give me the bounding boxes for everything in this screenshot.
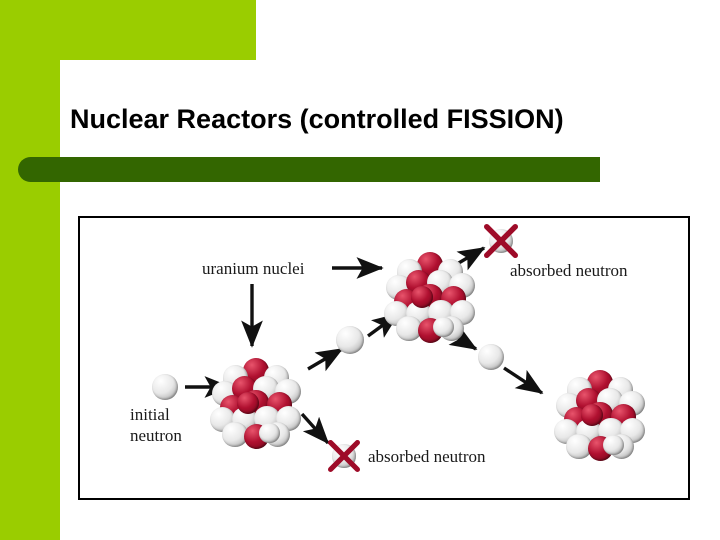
label-absorbed-neutron-bottom: absorbed neutron	[368, 446, 486, 467]
fission-diagram: uranium nuclei absorbed neutron absorbed…	[80, 218, 688, 498]
proton-sphere	[237, 392, 259, 414]
neutron-sphere	[478, 344, 504, 370]
label-absorbed-neutron-top: absorbed neutron	[510, 260, 628, 281]
arrow-neutron-into-right-nucleus	[504, 368, 542, 393]
label-initial-neutron-line1: initial	[130, 404, 182, 425]
label-uranium-nuclei: uranium nuclei	[202, 258, 304, 279]
neutron-sphere	[152, 374, 178, 400]
theme-dark-green-underline-bar	[18, 157, 600, 182]
absorbed-neutron-top-marker	[484, 224, 518, 258]
neutron-sphere	[433, 317, 453, 337]
proton-sphere	[411, 286, 433, 308]
red-cross-icon	[484, 224, 518, 258]
theme-top-green-block	[0, 0, 256, 60]
neutron-sphere	[603, 435, 623, 455]
uranium-nucleus-right	[558, 376, 642, 458]
proton-sphere	[581, 404, 603, 426]
slide-canvas: Nuclear Reactors (controlled FISSION)	[0, 0, 720, 540]
red-cross-icon	[328, 440, 360, 472]
absorbed-neutron-bottom-marker	[328, 440, 360, 472]
theme-left-green-bar	[0, 0, 60, 540]
uranium-nucleus-left	[214, 364, 298, 446]
initial-neutron-sphere	[152, 374, 178, 400]
label-initial-neutron-line2: neutron	[130, 425, 182, 446]
label-initial-neutron: initial neutron	[130, 404, 182, 446]
neutron-sphere	[336, 326, 364, 354]
free-neutron-left	[336, 326, 364, 354]
arrow-nucleus1-emit-down	[302, 414, 328, 443]
free-neutron-right	[478, 344, 504, 370]
fission-diagram-frame: uranium nuclei absorbed neutron absorbed…	[78, 216, 690, 500]
uranium-nucleus-center	[388, 258, 472, 340]
page-title: Nuclear Reactors (controlled FISSION)	[70, 102, 690, 136]
neutron-sphere	[259, 423, 279, 443]
